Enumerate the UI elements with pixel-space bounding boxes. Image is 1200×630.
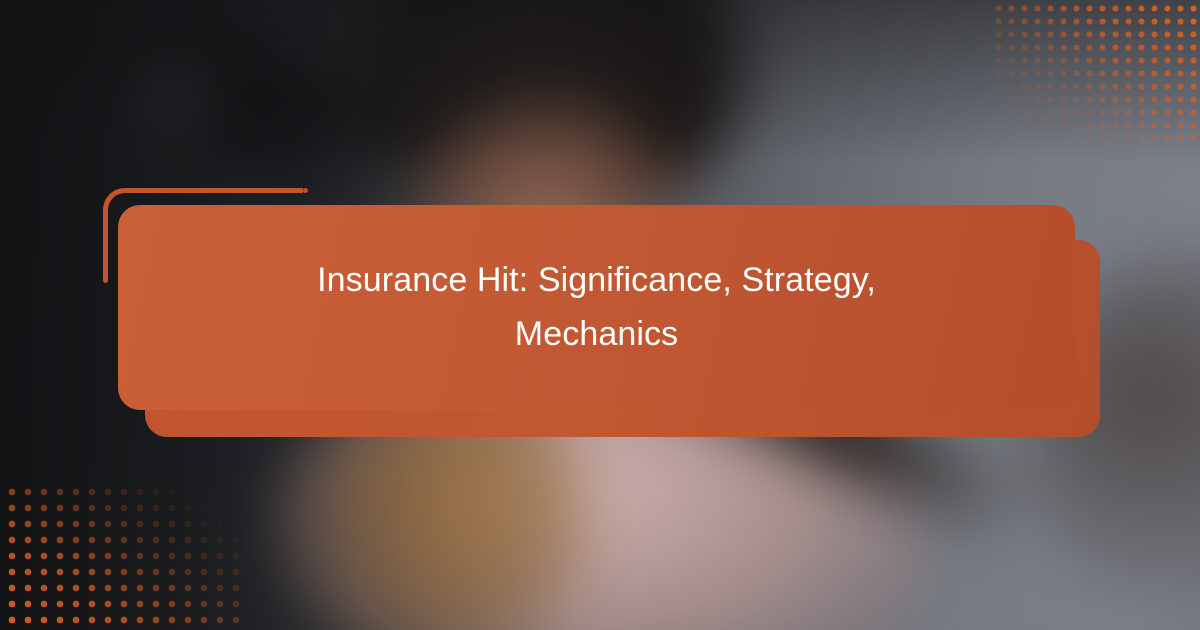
title-card: Insurance Hit: Significance, Strategy, M…	[118, 205, 1075, 410]
page-title: Insurance Hit: Significance, Strategy, M…	[277, 254, 917, 361]
social-card-canvas: Insurance Hit: Significance, Strategy, M…	[0, 0, 1200, 630]
halftone-dots-top-right-icon	[990, 0, 1200, 140]
halftone-dots-bottom-left-icon	[0, 480, 240, 630]
